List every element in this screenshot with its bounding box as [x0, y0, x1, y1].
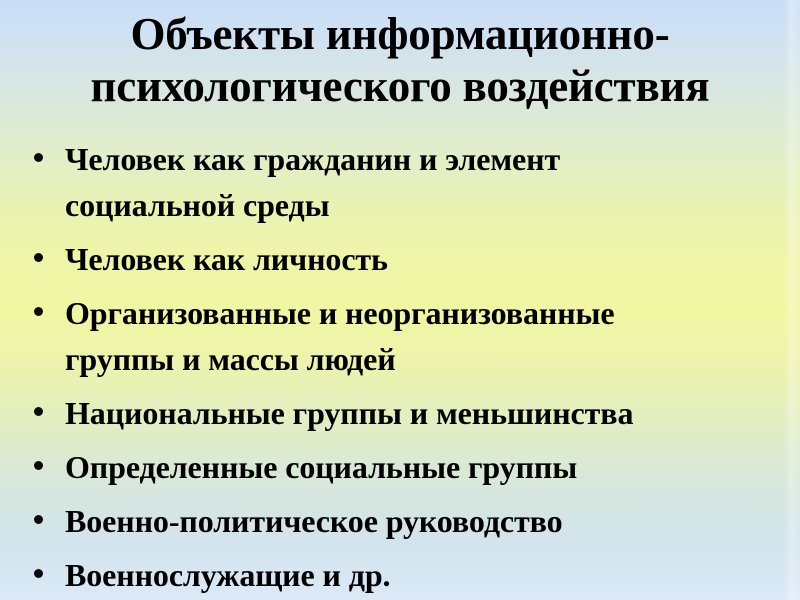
list-item: Военнослужащие и др. [0, 552, 800, 598]
list-item-text: Военнослужащие и др. [65, 552, 770, 598]
list-item-text: Военно-политическое руководство [65, 498, 770, 544]
bullet-list: Человек как гражданин и элемент социальн… [0, 136, 800, 600]
list-item-line-1: Военнослужащие и др. [65, 552, 770, 598]
list-item: Организованные и неорганизованные группы… [0, 290, 800, 382]
list-item-line-1: Национальные группы и меньшинства [65, 390, 770, 436]
list-item-line-1: Человек как гражданин и элемент [65, 136, 770, 182]
list-item-line-1: Человек как личность [65, 236, 770, 282]
list-item: Военно-политическое руководство [0, 498, 800, 544]
bullet-dot-icon [34, 461, 43, 470]
bullet-dot-icon [34, 253, 43, 262]
presentation-slide: Объекты информационно- психологического … [0, 0, 800, 600]
bullet-dot-icon [34, 153, 43, 162]
list-item-text: Организованные и неорганизованные группы… [65, 290, 770, 382]
slide-title-line-2: психологического воздействия [40, 60, 760, 112]
list-item-line-1: Определенные социальные группы [65, 444, 770, 490]
list-item-line-1: Военно-политическое руководство [65, 498, 770, 544]
list-item: Определенные социальные группы [0, 444, 800, 490]
bullet-dot-icon [34, 569, 43, 578]
list-item-text: Определенные социальные группы [65, 444, 770, 490]
list-item-line-2: социальной среды [65, 182, 770, 228]
list-item-text: Человек как личность [65, 236, 770, 282]
list-item-text: Национальные группы и меньшинства [65, 390, 770, 436]
list-item-line-1: Организованные и неорганизованные [65, 290, 770, 336]
list-item-text: Человек как гражданин и элемент социальн… [65, 136, 770, 228]
list-item: Человек как гражданин и элемент социальн… [0, 136, 800, 228]
bullet-dot-icon [34, 307, 43, 316]
bullet-dot-icon [34, 515, 43, 524]
bullet-dot-icon [34, 407, 43, 416]
list-item: Национальные группы и меньшинства [0, 390, 800, 436]
slide-title: Объекты информационно- психологического … [40, 8, 760, 112]
slide-title-line-1: Объекты информационно- [40, 8, 760, 60]
list-item: Человек как личность [0, 236, 800, 282]
list-item-line-2: группы и массы людей [65, 336, 770, 382]
